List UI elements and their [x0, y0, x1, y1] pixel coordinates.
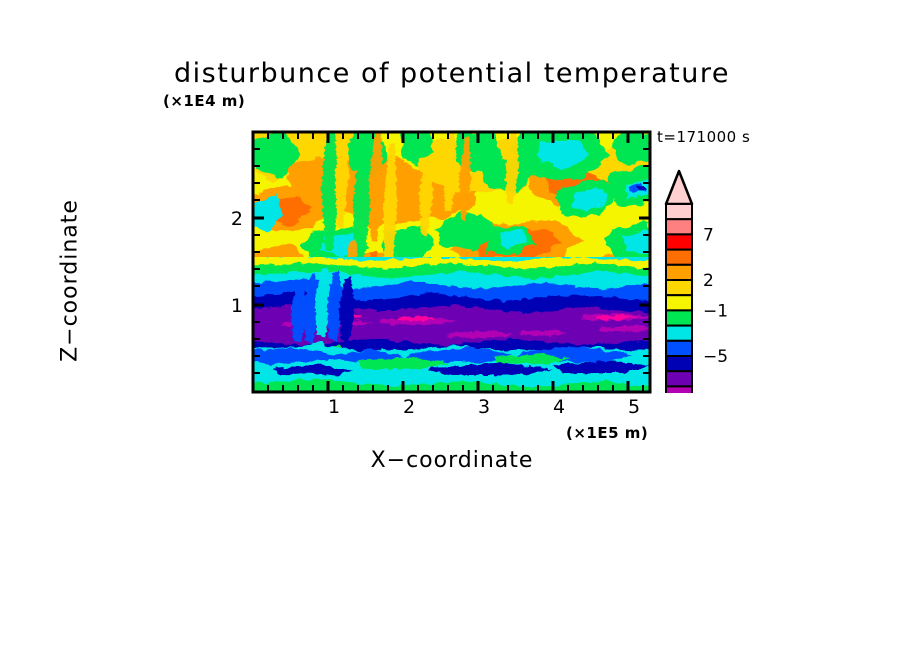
colorbar-band — [666, 371, 692, 386]
x-tick-label: 1 — [319, 396, 349, 418]
colorbar-arrow-top — [666, 171, 692, 204]
colorbar-band — [666, 219, 692, 234]
colorbar-tick-label: −1 — [703, 301, 728, 321]
x-tick-label: 2 — [394, 396, 424, 418]
colorbar-bands — [666, 204, 692, 393]
y-tick-label: 2 — [213, 208, 243, 230]
z-axis-unit-label: (×1E4 m) — [163, 92, 245, 110]
colorbar-tick-label: 7 — [703, 225, 714, 245]
colorbar: 72−1−5−12 — [663, 168, 781, 393]
page-title: disturbunce of potential temperature — [0, 58, 904, 89]
y-tick-label: 1 — [213, 295, 243, 317]
x-tick-label: 4 — [544, 396, 574, 418]
colorbar-band — [666, 341, 692, 356]
colorbar-band — [666, 265, 692, 280]
colorbar-band — [666, 356, 692, 371]
x-tick-label: 3 — [469, 396, 499, 418]
colorbar-band — [666, 204, 692, 219]
colorbar-band — [666, 386, 692, 393]
colorbar-band — [666, 310, 692, 325]
colorbar-labels: 72−1−5−12 — [703, 225, 739, 393]
colorbar-band — [666, 280, 692, 295]
x-axis-title: X−coordinate — [0, 448, 904, 473]
y-axis-title: Z−coordinate — [58, 151, 83, 411]
colorbar-tick-label: −5 — [703, 347, 728, 367]
time-annotation: t=171000 s — [657, 128, 750, 146]
colorbar-band — [666, 326, 692, 341]
x-axis-unit-label: (×1E5 m) — [566, 424, 648, 442]
colorbar-band — [666, 295, 692, 310]
x-tick-label: 5 — [619, 396, 649, 418]
colorbar-band — [666, 234, 692, 249]
colorbar-tick-label: 2 — [703, 271, 714, 291]
colorbar-band — [666, 250, 692, 265]
plot-frame — [247, 126, 659, 402]
